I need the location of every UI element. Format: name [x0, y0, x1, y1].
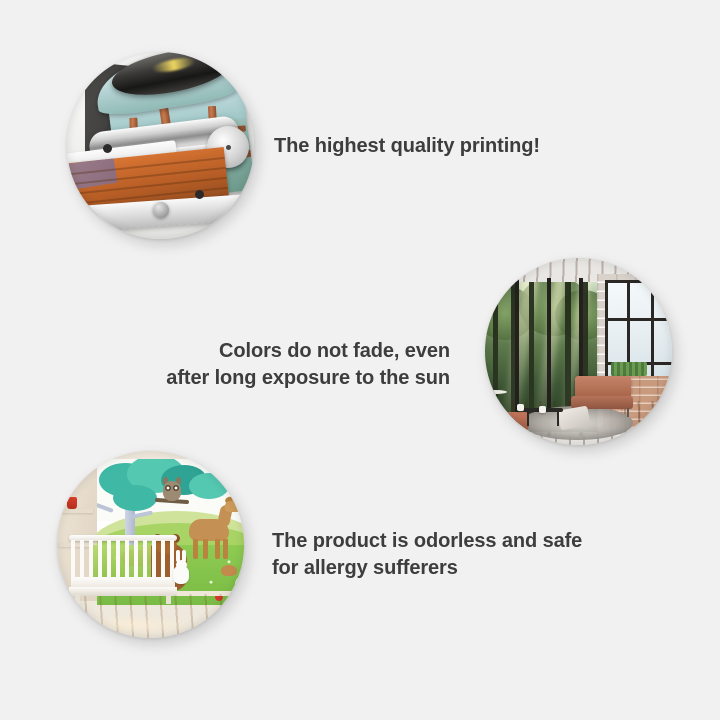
caption-colors-do-not-fade: Colors do not fade, even after long expo…: [120, 338, 450, 392]
baby-crib: [69, 535, 177, 603]
mug: [539, 406, 546, 413]
mural-deer: [189, 503, 243, 559]
mural-rabbit: [171, 555, 191, 585]
printing-press-photo: [67, 52, 254, 239]
loft-forest-mural-photo: [485, 258, 672, 445]
mural-acorn: [221, 565, 237, 576]
side-table: [485, 390, 507, 416]
feature-highlights-page: The highest quality printing!: [0, 0, 720, 720]
nursery-mural-photo: [57, 451, 244, 638]
caption-printing: The highest quality printing!: [274, 133, 540, 160]
mural-owl: [161, 477, 183, 503]
red-jar: [67, 497, 77, 509]
mug: [517, 404, 524, 411]
caption-odorless-and-safe: The product is odorless and safe for all…: [272, 528, 582, 582]
window-plants: [611, 362, 647, 376]
